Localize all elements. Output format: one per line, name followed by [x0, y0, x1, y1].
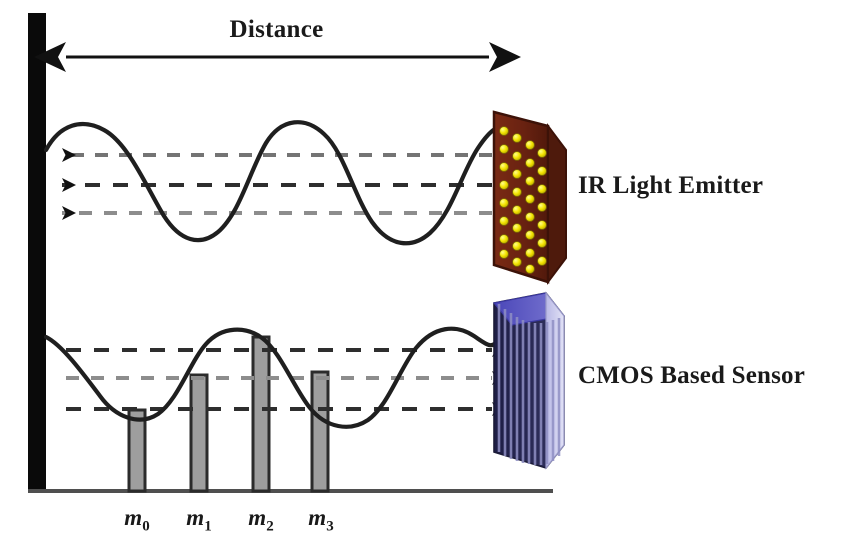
- sample-label-base: m: [248, 505, 266, 530]
- tof-diagram-illustration: [0, 0, 867, 560]
- sample-bar: [191, 375, 207, 491]
- wall-surface: [28, 13, 46, 492]
- sample-label-m0: m0: [102, 505, 172, 536]
- ir-emitter-device: [494, 112, 566, 282]
- sample-label-base: m: [124, 505, 142, 530]
- emitted-sine-wave: [46, 122, 497, 243]
- diagram-canvas: Distance IR Light Emitter CMOS Based Sen…: [0, 0, 867, 560]
- sample-label-m1: m1: [164, 505, 234, 536]
- emitted-ray-lines: [62, 155, 492, 213]
- sample-label-m3: m3: [286, 505, 356, 536]
- sample-bar: [253, 337, 269, 491]
- sample-label-sub: 3: [326, 519, 334, 535]
- sample-label-base: m: [308, 505, 326, 530]
- cmos-sensor-device: [494, 293, 564, 468]
- distance-label: Distance: [0, 16, 553, 44]
- sample-label-sub: 2: [266, 519, 274, 535]
- sample-label-base: m: [186, 505, 204, 530]
- ir-emitter-label: IR Light Emitter: [578, 172, 763, 200]
- sample-label-sub: 1: [204, 519, 212, 535]
- sample-label-sub: 0: [142, 519, 150, 535]
- sample-bar: [129, 410, 145, 491]
- cmos-sensor-label: CMOS Based Sensor: [578, 362, 805, 390]
- sample-bar: [312, 372, 328, 491]
